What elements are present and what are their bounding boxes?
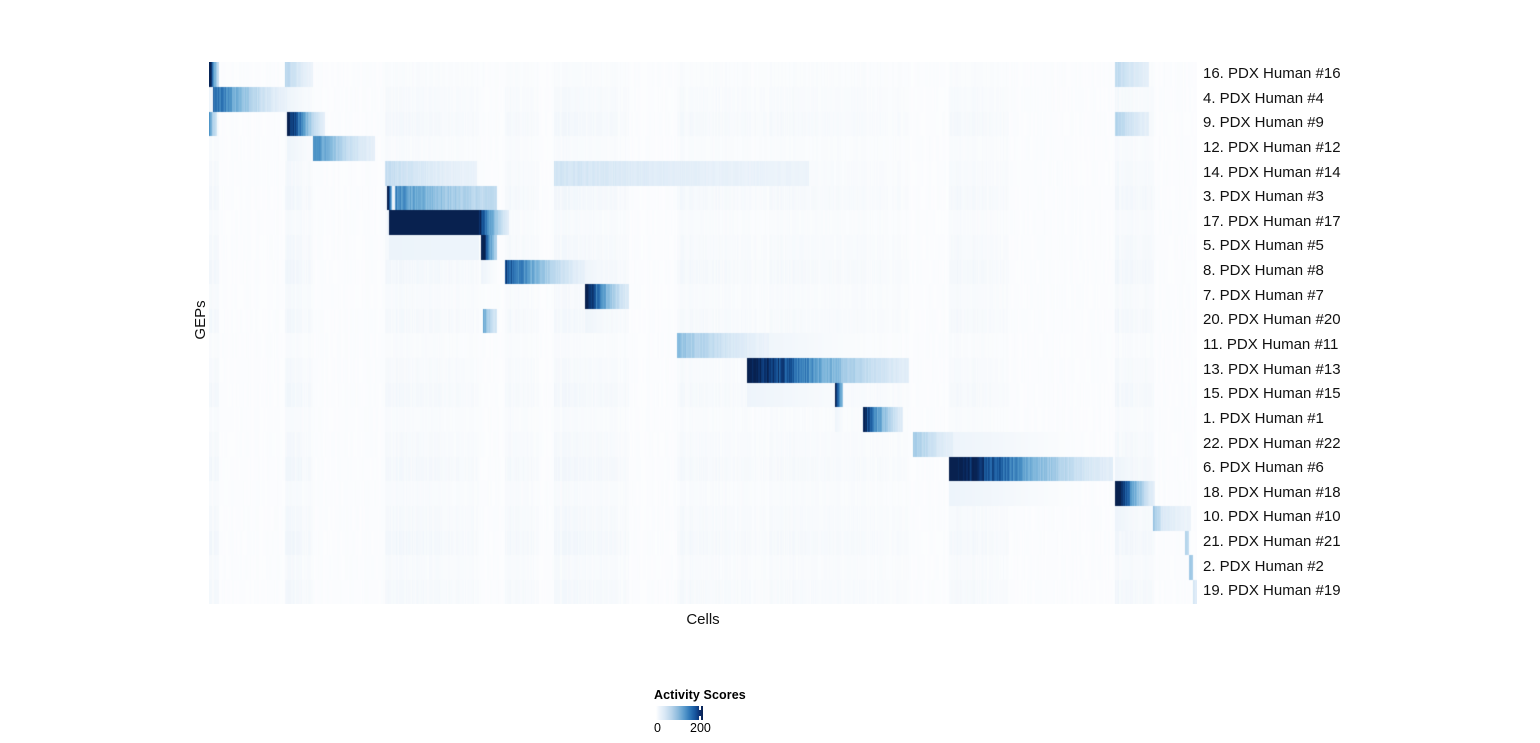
row-label: 3. PDX Human #3: [1203, 185, 1324, 210]
row-label: 2. PDX Human #2: [1203, 555, 1324, 580]
y-axis-label: GEPs: [180, 290, 220, 350]
row-label: 19. PDX Human #19: [1203, 579, 1341, 604]
row-label: 7. PDX Human #7: [1203, 284, 1324, 309]
row-label: 15. PDX Human #15: [1203, 382, 1341, 407]
row-label: 16. PDX Human #16: [1203, 62, 1341, 87]
colorbar-title: Activity Scores: [654, 688, 856, 702]
row-label: 11. PDX Human #11: [1203, 333, 1338, 358]
row-label: 9. PDX Human #9: [1203, 111, 1324, 136]
heatmap-canvas: [209, 62, 1197, 604]
colorbar-tick-bottom: [699, 716, 701, 720]
row-label: 10. PDX Human #10: [1203, 505, 1341, 530]
colorbar-tick-top: [699, 706, 701, 710]
colorbar-tick-labels: 0 200: [656, 721, 736, 737]
row-label: 20. PDX Human #20: [1203, 308, 1341, 333]
colorbar-tick-label-200: 200: [690, 721, 711, 735]
row-label: 17. PDX Human #17: [1203, 210, 1341, 235]
heatmap-plot-area: [209, 62, 1197, 604]
row-label: 8. PDX Human #8: [1203, 259, 1324, 284]
row-label-list: 16. PDX Human #164. PDX Human #49. PDX H…: [1203, 62, 1523, 604]
row-label: 18. PDX Human #18: [1203, 481, 1341, 506]
row-label: 12. PDX Human #12: [1203, 136, 1341, 161]
row-label: 1. PDX Human #1: [1203, 407, 1324, 432]
colorbar-gradient: [656, 706, 703, 720]
row-label: 21. PDX Human #21: [1203, 530, 1341, 555]
row-label: 22. PDX Human #22: [1203, 432, 1341, 457]
row-label: 4. PDX Human #4: [1203, 87, 1324, 112]
colorbar-tick-label-0: 0: [654, 721, 661, 735]
row-label: 14. PDX Human #14: [1203, 161, 1341, 186]
row-label: 5. PDX Human #5: [1203, 234, 1324, 259]
x-axis-label: Cells: [209, 611, 1197, 628]
colorbar-legend: Activity Scores 0 200: [656, 688, 856, 737]
row-label: 6. PDX Human #6: [1203, 456, 1324, 481]
row-label: 13. PDX Human #13: [1203, 358, 1341, 383]
heatmap-figure: GEPs Cells 16. PDX Human #164. PDX Human…: [0, 0, 1540, 743]
